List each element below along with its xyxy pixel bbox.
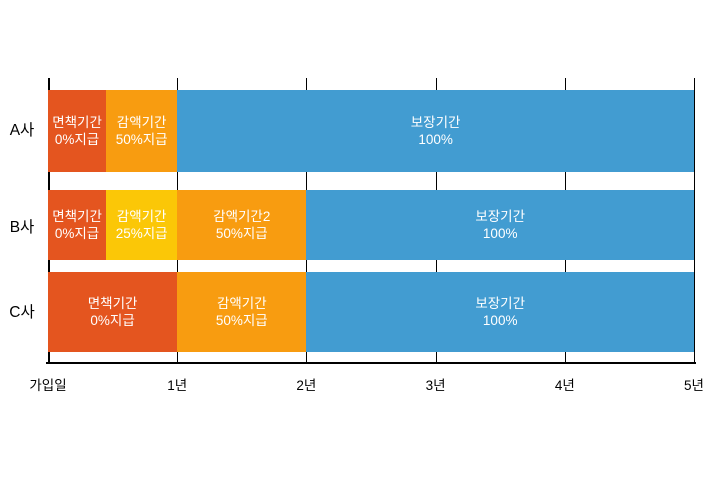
segment-label: 면책기간	[52, 208, 102, 225]
bar-segment-C사-1[interactable]: 면책기간0%지급	[48, 272, 177, 352]
segment-value: 25%지급	[116, 225, 168, 242]
segment-value: 100%	[483, 225, 518, 242]
segment-value: 0%지급	[90, 312, 134, 329]
segment-label: 보장기간	[475, 295, 525, 312]
bar-row-C사: 면책기간0%지급감액기간50%지급보장기간100%	[48, 272, 694, 352]
bar-segment-B사-3[interactable]: 감액기간250%지급	[177, 190, 306, 260]
segment-label: 보장기간	[411, 114, 461, 131]
segment-label: 감액기간	[117, 208, 167, 225]
bar-segment-A사-2[interactable]: 감액기간50%지급	[106, 90, 177, 172]
segment-value: 0%지급	[55, 225, 99, 242]
segment-value: 50%지급	[216, 225, 268, 242]
insurance-coverage-timeline-chart: 면책기간0%지급감액기간50%지급보장기간100%면책기간0%지급감액기간25%…	[0, 0, 720, 480]
x-tick-label-1년: 1년	[167, 374, 187, 394]
x-tick-label-2년: 2년	[296, 374, 316, 394]
plot-area: 면책기간0%지급감액기간50%지급보장기간100%면책기간0%지급감액기간25%…	[48, 78, 694, 362]
bar-segment-B사-4[interactable]: 보장기간100%	[306, 190, 694, 260]
x-tick-label-5년: 5년	[684, 374, 704, 394]
segment-value: 100%	[418, 131, 453, 148]
x-axis-line	[46, 362, 696, 364]
bar-segment-A사-3[interactable]: 보장기간100%	[177, 90, 694, 172]
bar-segment-C사-2[interactable]: 감액기간50%지급	[177, 272, 306, 352]
segment-label: 보장기간	[475, 208, 525, 225]
bar-segment-B사-2[interactable]: 감액기간25%지급	[106, 190, 177, 260]
segment-value: 100%	[483, 312, 518, 329]
bar-segment-B사-1[interactable]: 면책기간0%지급	[48, 190, 106, 260]
segment-value: 50%지급	[116, 131, 168, 148]
bar-row-B사: 면책기간0%지급감액기간25%지급감액기간250%지급보장기간100%	[48, 190, 694, 260]
bar-row-A사: 면책기간0%지급감액기간50%지급보장기간100%	[48, 90, 694, 172]
x-tick-label-4년: 4년	[555, 374, 575, 394]
segment-label: 감액기간	[217, 295, 267, 312]
segment-label: 감액기간2	[213, 208, 270, 225]
segment-label: 감액기간	[117, 114, 167, 131]
row-label-B사: B사	[0, 215, 44, 237]
segment-label: 면책기간	[88, 295, 138, 312]
segment-label: 면책기간	[52, 114, 102, 131]
bar-segment-A사-1[interactable]: 면책기간0%지급	[48, 90, 106, 172]
segment-value: 50%지급	[216, 312, 268, 329]
x-tick-label-가입일: 가입일	[29, 374, 66, 394]
x-tick-label-3년: 3년	[426, 374, 446, 394]
row-label-A사: A사	[0, 118, 44, 140]
segment-value: 0%지급	[55, 131, 99, 148]
row-label-C사: C사	[0, 300, 44, 322]
bar-segment-C사-3[interactable]: 보장기간100%	[306, 272, 694, 352]
gridline-5년	[694, 78, 695, 362]
